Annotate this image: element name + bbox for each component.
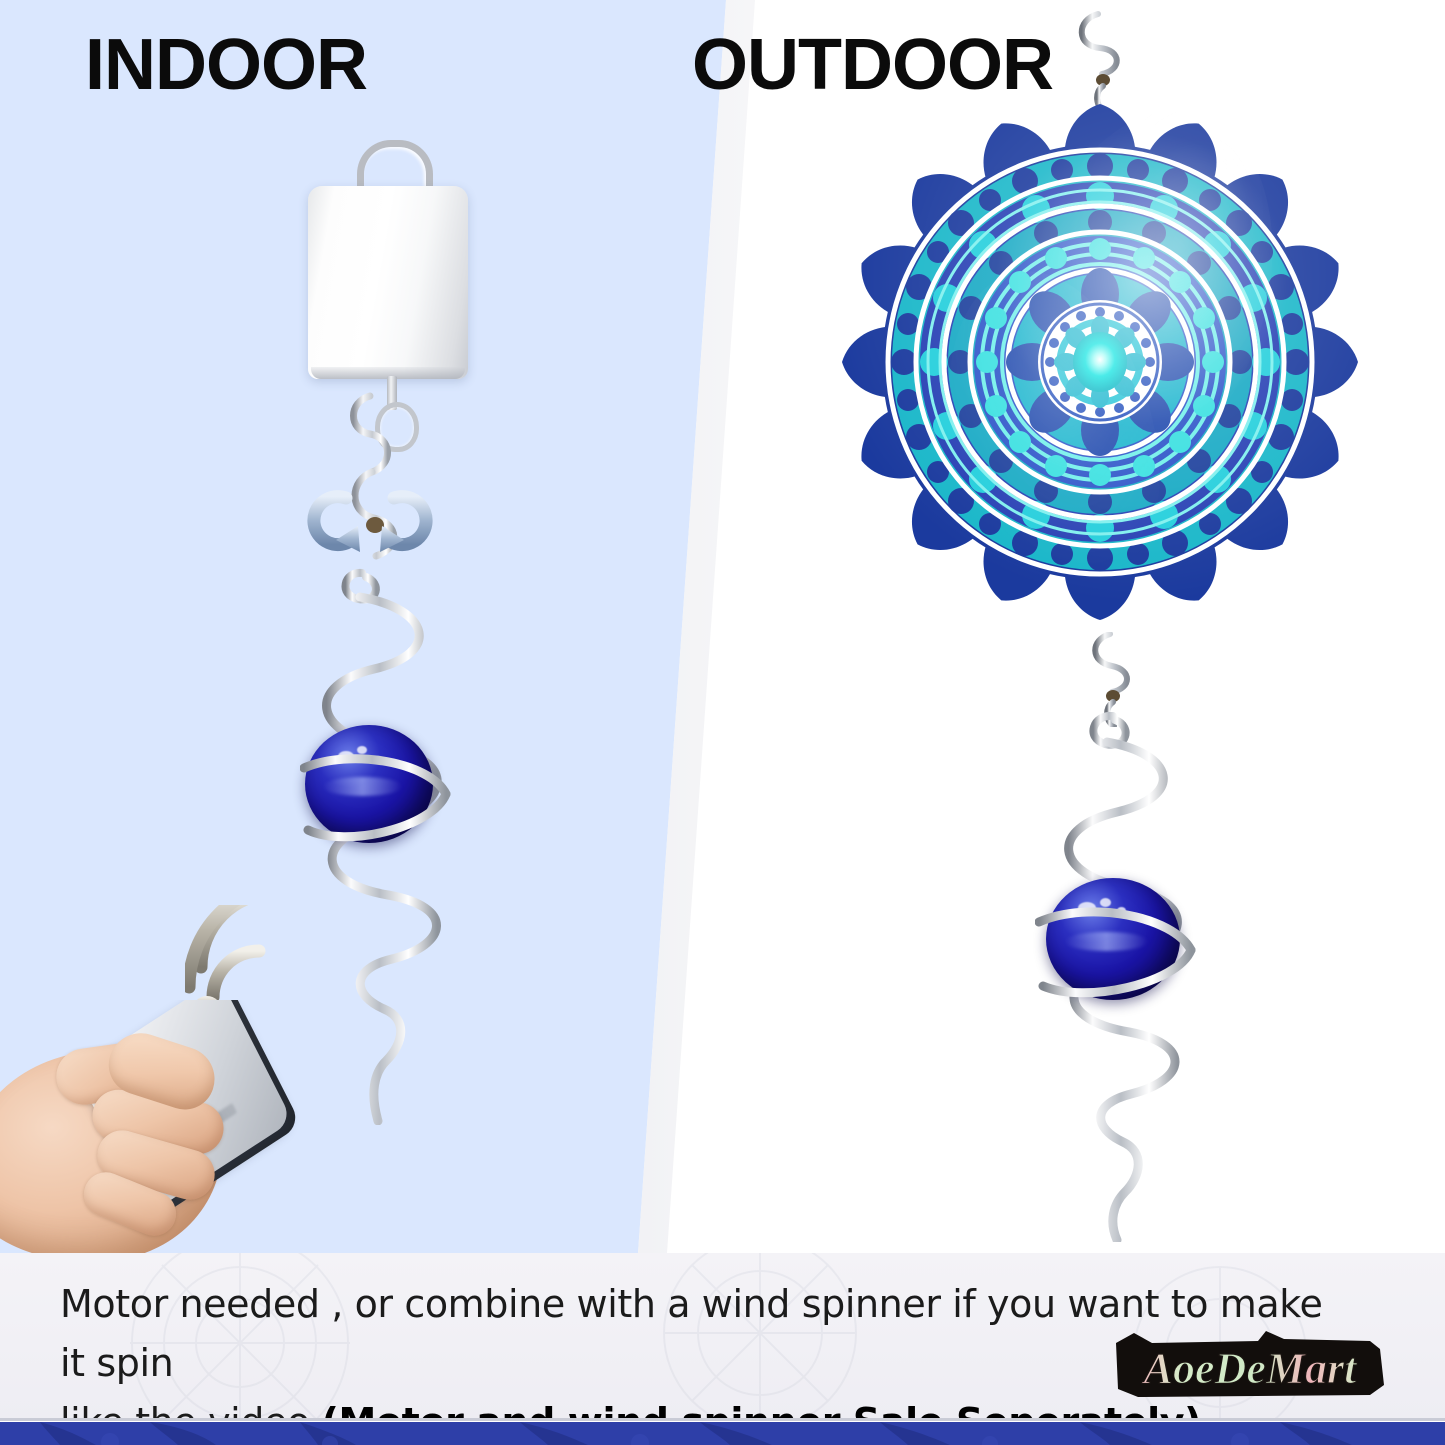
product-infographic: INDOOR OUTDOOR bbox=[0, 0, 1445, 1445]
bottom-strip-pattern bbox=[0, 1422, 1445, 1445]
band-divider-rule bbox=[0, 1418, 1445, 1421]
outdoor-heading: OUTDOOR bbox=[692, 24, 1053, 106]
caption-line-2-normal: like the video bbox=[60, 1400, 322, 1420]
caption-line-2-bold: (Motor and wind spinner Sale Seperately) bbox=[322, 1400, 1202, 1420]
glass-ball-indoor bbox=[305, 725, 433, 843]
hanging-motor bbox=[295, 140, 495, 400]
mandala-wind-spinner bbox=[836, 98, 1364, 626]
brand-logo: AoeDeMart bbox=[1108, 1327, 1395, 1405]
indoor-spiral-tail bbox=[300, 565, 480, 1125]
motor-body bbox=[308, 186, 468, 379]
hand-holding-remote bbox=[0, 1000, 310, 1253]
rotation-arrows-icon bbox=[300, 478, 440, 563]
indoor-heading: INDOOR bbox=[85, 24, 367, 106]
logo-text: AoeDeMart bbox=[1141, 1344, 1358, 1393]
bottom-strip bbox=[0, 1422, 1445, 1445]
glass-ball-outdoor bbox=[1046, 878, 1180, 1000]
